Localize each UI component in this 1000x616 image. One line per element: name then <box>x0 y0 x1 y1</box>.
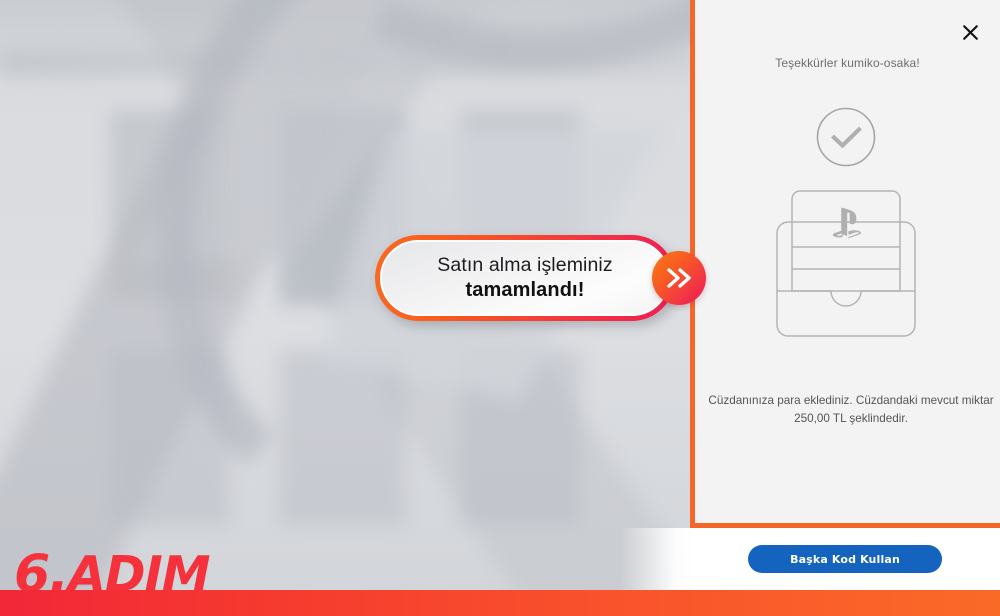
callout-inner: Satın alma işleminiz tamamlandı! <box>380 240 670 316</box>
panel-footer: Başka Kod Kullan <box>690 528 1000 590</box>
wallet-success-panel: Teşekkürler kumiko-osaka! <box>690 0 1000 528</box>
callout-line-2: tamamlandı! <box>466 278 585 302</box>
purchase-complete-callout: Satın alma işleminiz tamamlandı! <box>375 235 675 321</box>
footer-fade <box>620 528 700 590</box>
use-another-code-button[interactable]: Başka Kod Kullan <box>748 545 942 573</box>
double-chevron-right-icon <box>652 251 706 305</box>
screenshot-root: Satın alma işleminiz tamamlandı! Teşekkü… <box>0 0 1000 616</box>
callout-line-1: Satın alma işleminiz <box>437 254 612 278</box>
panel-greeting-text: Teşekkürler kumiko-osaka! <box>695 56 1000 70</box>
playstation-wallet-icon <box>766 181 926 352</box>
bottom-accent-bar <box>0 590 1000 616</box>
check-circle-icon <box>816 107 876 172</box>
panel-message-text: Cüzdanınıza para eklediniz. Cüzdandaki m… <box>703 392 999 428</box>
close-icon[interactable] <box>954 16 986 48</box>
